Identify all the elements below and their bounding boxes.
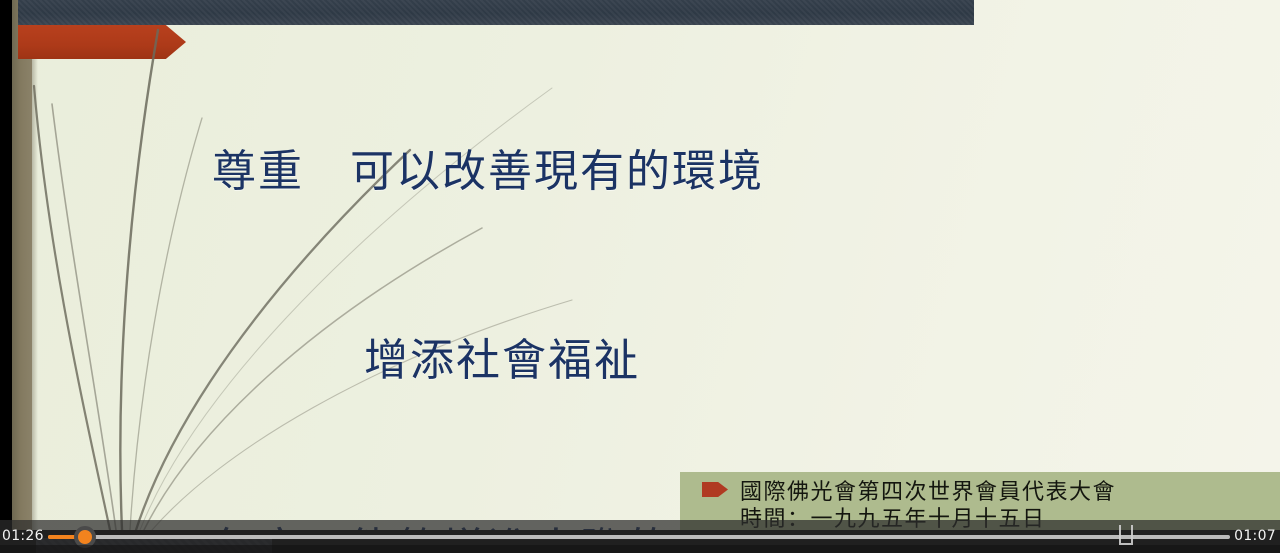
remaining-time-label: 01:07 [1234, 528, 1276, 544]
bottom-letterbox [0, 545, 1280, 553]
progress-scrubber-track[interactable] [48, 535, 1230, 539]
verse-line-2: 增添社會福祉 [212, 329, 1252, 392]
current-time-label: 01:26 [2, 528, 44, 544]
chapter-marker-icon[interactable] [1119, 525, 1133, 545]
slide-left-accent-shadow [32, 0, 38, 530]
verse-text-block: 尊重 可以改善現有的環境 增添社會福祉 包容 能夠增進人際的和諧 廣利一切眾生 … [212, 14, 1252, 530]
presentation-slide: 尊重 可以改善現有的環境 增添社會福祉 包容 能夠增進人際的和諧 廣利一切眾生 … [12, 0, 1280, 530]
arrow-bullet-icon [702, 482, 728, 497]
video-player-screen: 尊重 可以改善現有的環境 增添社會福祉 包容 能夠增進人際的和諧 廣利一切眾生 … [0, 0, 1280, 553]
verse-line-1: 尊重 可以改善現有的環境 [212, 140, 1252, 203]
slide-red-arrow-banner [18, 25, 186, 59]
caption-row-event: 國際佛光會第四次世界會員代表大會 [680, 476, 1280, 503]
slide-left-accent-bar [12, 0, 32, 530]
